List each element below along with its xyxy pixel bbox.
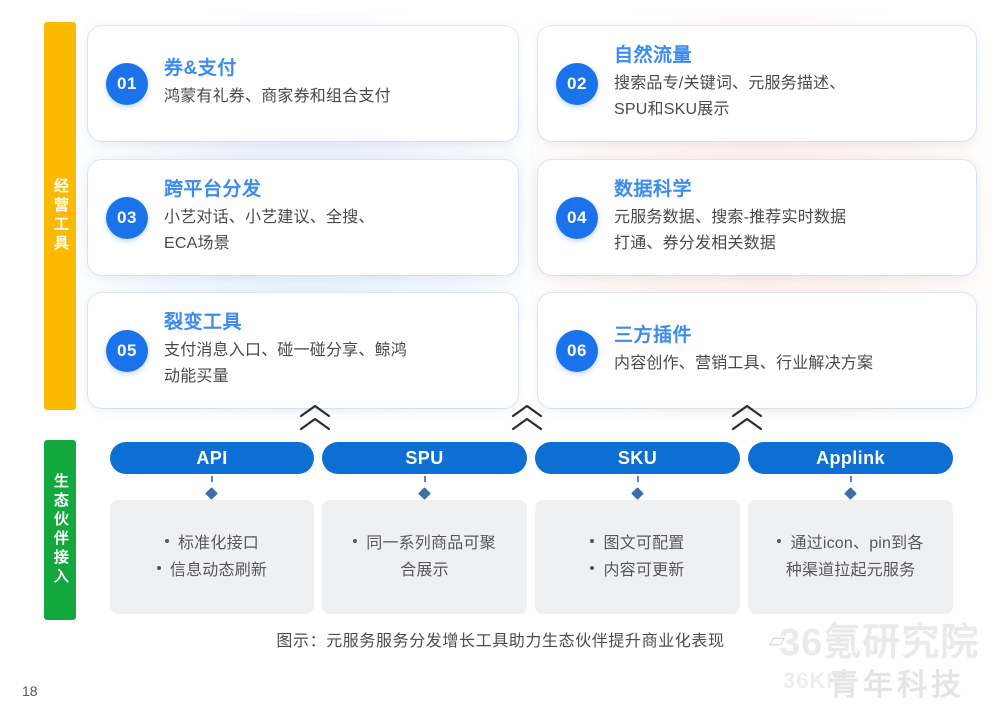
sidebar-operating-tools: 经营工具	[44, 22, 76, 410]
list-item-text: 内容可更新	[603, 562, 684, 579]
card-number-badge: 04	[556, 197, 598, 239]
double-chevron-up-icon	[730, 404, 764, 432]
figure-caption: 图示：元服务服务分发增长工具助力生态伙伴提升商业化表现	[0, 627, 1001, 651]
double-chevron-up-icon	[298, 404, 332, 432]
card-body: 跨平台分发 小艺对话、小艺建议、全搜、 ECA场景	[164, 178, 385, 257]
card-number-badge: 06	[556, 330, 598, 372]
list-item-text: 标准化接口	[178, 535, 259, 552]
card-title: 自然流量	[614, 44, 845, 68]
card-description: 内容创作、营销工具、行业解决方案	[614, 351, 873, 377]
card-body: 三方插件 内容创作、营销工具、行业解决方案	[614, 324, 883, 377]
bullet-dot-icon	[157, 566, 161, 570]
diamond-node-icon	[631, 487, 644, 500]
detail-box-spu: 同一系列商品可聚 合展示	[322, 500, 527, 614]
feature-card-02[interactable]: 02 自然流量 搜索品专/关键词、元服务描述、 SPU和SKU展示	[538, 26, 976, 141]
sidebar-ecosystem-partner-access-label: 生态伙伴接入	[51, 473, 69, 587]
card-number-badge: 01	[106, 63, 148, 105]
card-description: 支付消息入口、碰一碰分享、鲸鸿 动能买量	[164, 338, 407, 390]
bullet-dot-icon	[353, 539, 357, 543]
card-description: 小艺对话、小艺建议、全搜、 ECA场景	[164, 205, 375, 257]
card-body: 裂变工具 支付消息入口、碰一碰分享、鲸鸿 动能买量	[164, 311, 417, 390]
card-description: 搜索品专/关键词、元服务描述、 SPU和SKU展示	[614, 71, 845, 123]
diamond-node-icon	[418, 487, 431, 500]
list-item-text: 信息动态刷新	[170, 562, 267, 579]
card-title: 券&支付	[164, 57, 391, 81]
watermark-overlay-text: 青年科技	[829, 660, 965, 704]
card-title: 跨平台分发	[164, 178, 375, 202]
card-title: 裂变工具	[164, 311, 407, 335]
diamond-node-icon	[844, 487, 857, 500]
pill-spu[interactable]: SPU	[322, 442, 527, 474]
page-number: 18	[22, 683, 38, 699]
bullet-dot-icon	[590, 539, 594, 543]
bullet-dot-icon	[590, 566, 594, 570]
card-body: 券&支付 鸿蒙有礼券、商家券和组合支付	[164, 57, 401, 110]
card-number-badge: 02	[556, 63, 598, 105]
feature-card-06[interactable]: 06 三方插件 内容创作、营销工具、行业解决方案	[538, 293, 976, 408]
card-number-badge: 03	[106, 197, 148, 239]
bullet-dot-icon	[165, 539, 169, 543]
detail-box-api: 标准化接口 信息动态刷新	[110, 500, 314, 614]
list-item: 通过icon、pin到各 种渠道拉起元服务	[762, 530, 939, 584]
feature-card-05[interactable]: 05 裂变工具 支付消息入口、碰一碰分享、鲸鸿 动能买量	[88, 293, 518, 408]
card-number-badge: 05	[106, 330, 148, 372]
list-item: 内容可更新	[549, 557, 726, 584]
sidebar-ecosystem-partner-access: 生态伙伴接入	[44, 440, 76, 620]
feature-card-01[interactable]: 01 券&支付 鸿蒙有礼券、商家券和组合支付	[88, 26, 518, 141]
list-item: 同一系列商品可聚 合展示	[336, 530, 513, 584]
double-chevron-up-icon	[510, 404, 544, 432]
bullet-dot-icon	[777, 539, 781, 543]
list-item-text: 图文可配置	[603, 535, 684, 552]
card-body: 数据科学 元服务数据、搜索-推荐实时数据 打通、券分发相关数据	[614, 178, 856, 257]
detail-box-sku: 图文可配置 内容可更新	[535, 500, 740, 614]
pill-applink[interactable]: Applink	[748, 442, 953, 474]
pill-sku[interactable]: SKU	[535, 442, 740, 474]
card-description: 鸿蒙有礼券、商家券和组合支付	[164, 84, 391, 110]
card-body: 自然流量 搜索品专/关键词、元服务描述、 SPU和SKU展示	[614, 44, 855, 123]
list-item: 图文可配置	[549, 530, 726, 557]
feature-card-03[interactable]: 03 跨平台分发 小艺对话、小艺建议、全搜、 ECA场景	[88, 160, 518, 275]
list-item-text: 通过icon、pin到各 种渠道拉起元服务	[786, 535, 924, 579]
watermark-sub-text: 36KR	[783, 668, 843, 694]
sidebar-operating-tools-label: 经营工具	[51, 178, 69, 254]
slide-root: 经营工具 生态伙伴接入 01 券&支付 鸿蒙有礼券、商家券和组合支付 02 自然…	[0, 0, 1001, 716]
card-title: 三方插件	[614, 324, 873, 348]
list-item: 信息动态刷新	[124, 557, 300, 584]
card-description: 元服务数据、搜索-推荐实时数据 打通、券分发相关数据	[614, 205, 846, 257]
card-title: 数据科学	[614, 178, 846, 202]
detail-box-applink: 通过icon、pin到各 种渠道拉起元服务	[748, 500, 953, 614]
list-item-text: 同一系列商品可聚 合展示	[366, 535, 496, 579]
pill-api[interactable]: API	[110, 442, 314, 474]
diamond-node-icon	[205, 487, 218, 500]
feature-card-04[interactable]: 04 数据科学 元服务数据、搜索-推荐实时数据 打通、券分发相关数据	[538, 160, 976, 275]
list-item: 标准化接口	[124, 530, 300, 557]
